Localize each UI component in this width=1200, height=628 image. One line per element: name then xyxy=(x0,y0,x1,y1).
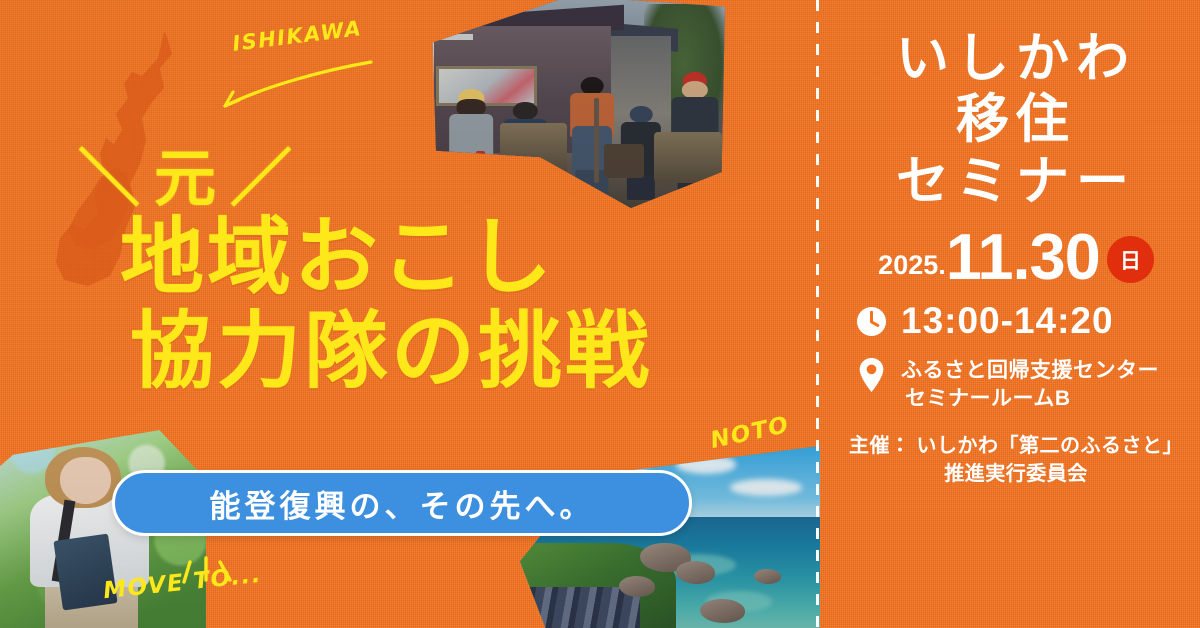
event-time-row: 13:00-14:20 xyxy=(832,300,1200,342)
event-host: 主催： いしかわ「第二のふるさと」 推進実行委員会 xyxy=(832,433,1200,487)
host-line-1: 主催： いしかわ「第二のふるさと」 xyxy=(832,433,1200,460)
venue-line-1: ふるさと回帰支援センター xyxy=(901,357,1159,385)
dashed-divider xyxy=(816,0,819,628)
seminar-title-line-2: 移住 xyxy=(832,89,1200,150)
main-headline: 地域おこし 協力隊の挑戦 xyxy=(120,210,652,398)
venue-line-2: セミナールームB xyxy=(901,385,1159,413)
weekday-badge: 日 xyxy=(1107,236,1154,283)
curved-arrow-icon xyxy=(205,44,375,116)
banner-canvas: ISHIKAWA xyxy=(0,0,1200,628)
date-month-day: 11.30 xyxy=(946,226,1100,288)
seminar-title: いしかわ 移住 セミナー xyxy=(832,28,1200,212)
subtitle-text: 能登復興の、その先へ。 xyxy=(210,481,595,526)
host-line-2: 推進実行委員会 xyxy=(832,461,1200,488)
event-date: 2025. 11.30 日 xyxy=(832,226,1200,288)
event-time: 13:00-14:20 xyxy=(901,300,1114,342)
seminar-title-line-1: いしかわ xyxy=(832,28,1200,89)
headline-line-2: 協力隊の挑戦 xyxy=(130,304,652,398)
subtitle-pill: 能登復興の、その先へ。 xyxy=(112,470,692,536)
kv-top-text: ＼元／ xyxy=(78,128,306,218)
right-info-panel: いしかわ 移住 セミナー 2025. 11.30 日 13:00-14:20 xyxy=(832,0,1200,628)
map-pin-icon xyxy=(854,357,888,393)
seminar-title-line-3: セミナー xyxy=(832,151,1200,212)
headline-line-1: 地域おこし xyxy=(120,210,555,304)
event-venue-row: ふるさと回帰支援センター セミナールームB xyxy=(832,357,1200,413)
clock-icon xyxy=(854,306,888,337)
date-year: 2025. xyxy=(878,250,946,288)
event-venue: ふるさと回帰支援センター セミナールームB xyxy=(901,357,1159,413)
